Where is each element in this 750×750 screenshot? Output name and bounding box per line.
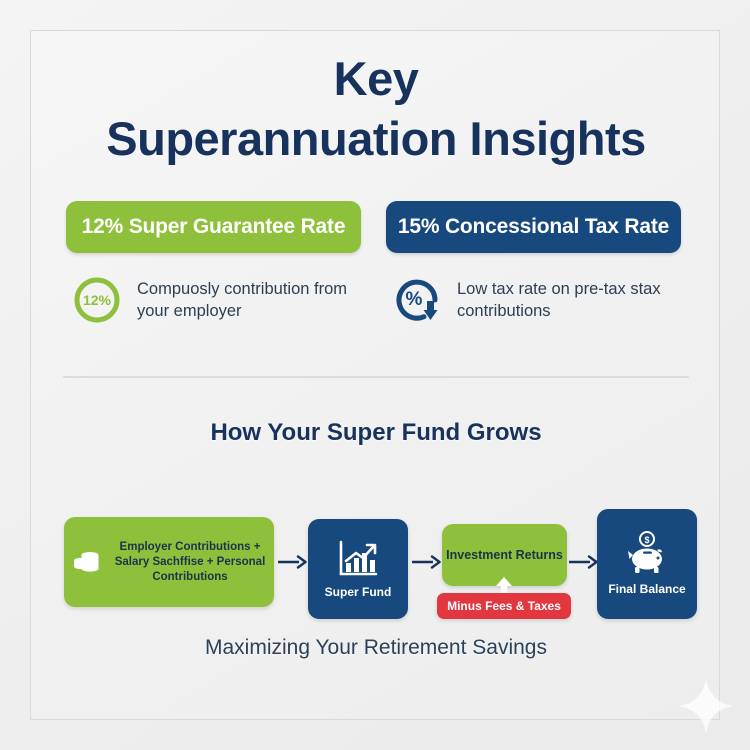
stat-detail-concessional-tax: % Low tax rate on pre-tax stax contribut… [386, 274, 681, 326]
flow-node-investment-returns-label: Investment Returns [446, 548, 563, 563]
flow-node-super-fund-label: Super Fund [325, 585, 392, 600]
stat-card-concessional-tax: 15% Concessional Tax Rate % Low tax rate… [386, 201, 681, 326]
page-title: Key Superannuation Insights [31, 49, 721, 169]
svg-text:%: % [406, 289, 423, 310]
flow-arrow-icon-2 [411, 553, 441, 571]
bar-chart-growth-icon [336, 539, 380, 579]
flow-section-heading: How Your Super Fund Grows [31, 419, 721, 447]
title-line-1: Key [334, 52, 419, 105]
flow-node-minus-fees-taxes-label: Minus Fees & Taxes [447, 599, 561, 614]
flow-node-minus-fees-taxes: Minus Fees & Taxes [437, 593, 571, 619]
stat-card-super-guarantee: 12% Super Guarantee Rate 12% Compuosly c… [66, 201, 361, 326]
stat-description-concessional-tax: Low tax rate on pre-tax stax contributio… [457, 278, 681, 322]
infographic-card: Key Superannuation Insights 12% Super Gu… [30, 30, 720, 720]
super-fund-flow-diagram: Employer Contributions + Salary Sachffis… [31, 479, 721, 614]
flow-arrow-icon-3 [568, 553, 598, 571]
section-divider [63, 376, 689, 378]
flow-node-contributions: Employer Contributions + Salary Sachffis… [64, 517, 274, 607]
stat-pill-super-guarantee: 12% Super Guarantee Rate [66, 201, 361, 253]
infographic-canvas: Key Superannuation Insights 12% Super Gu… [0, 0, 750, 750]
piggy-bank-icon: $ [624, 531, 670, 575]
footer-caption: Maximizing Your Retirement Savings [31, 636, 721, 660]
stat-description-super-guarantee: Compuosly contribution from your employe… [137, 278, 361, 322]
flow-node-final-balance-label: Final Balance [608, 582, 685, 597]
sparkle-decoration-icon [675, 675, 737, 737]
flow-node-final-balance: $ Final Balance [597, 509, 697, 619]
percent-down-arrow-icon: % [391, 274, 443, 326]
flow-node-contributions-label: Employer Contributions + Salary Sachffis… [106, 540, 274, 585]
ring-percent-icon: 12% [71, 274, 123, 326]
svg-text:12%: 12% [83, 292, 112, 308]
flow-node-super-fund: Super Fund [308, 519, 408, 619]
title-line-2: Superannuation Insights [31, 109, 721, 169]
flow-arrow-icon-1 [277, 553, 307, 571]
coin-stack-icon [70, 545, 104, 579]
stat-pill-concessional-tax: 15% Concessional Tax Rate [386, 201, 681, 253]
svg-text:$: $ [644, 535, 649, 545]
stat-detail-super-guarantee: 12% Compuosly contribution from your emp… [66, 274, 361, 326]
